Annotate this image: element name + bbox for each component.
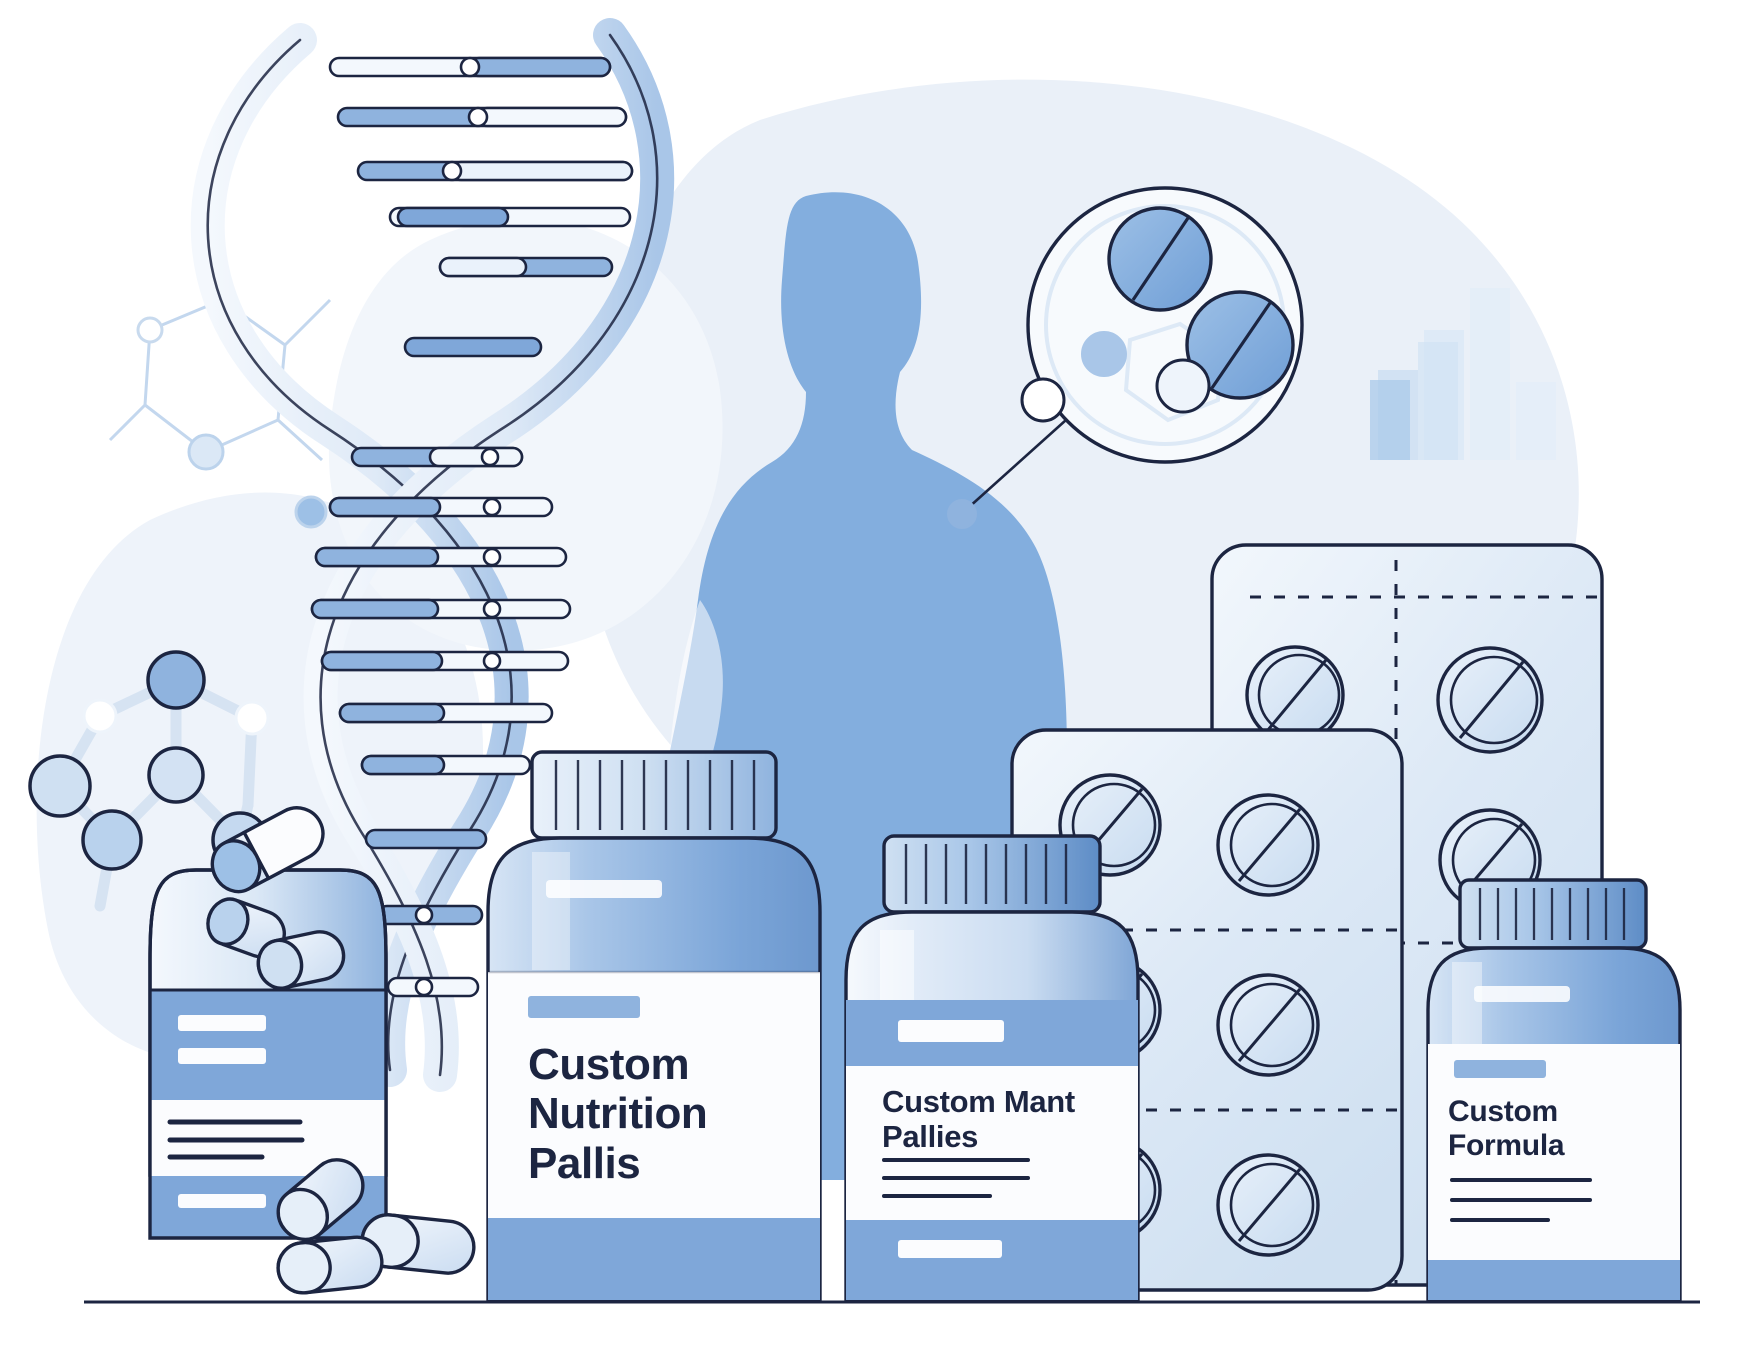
- bottle-medium-cap: [884, 836, 1100, 912]
- bottle-large-gloss: [532, 852, 570, 970]
- hex-bond-1: [285, 300, 330, 345]
- bar-1-front: [1370, 380, 1410, 460]
- magnifier-node-white: [1157, 360, 1209, 412]
- bottle-medium-gloss: [880, 930, 914, 1000]
- supplement-bottle-large: [488, 752, 820, 1300]
- bottle-small-label-text: Custom Formula: [1448, 1095, 1623, 1162]
- atom-node-highlight: [236, 702, 268, 734]
- bottle-large-cap: [532, 752, 776, 838]
- bottle-medium-band-strip: [898, 1020, 1004, 1042]
- supplement-bottle-medium: [846, 836, 1138, 1300]
- helix-rung: [322, 652, 568, 670]
- hex-node-3: [138, 318, 162, 342]
- bottle-small-gloss: [1452, 962, 1482, 1044]
- label-line: Nutrition: [528, 1089, 768, 1138]
- jar-band-bottom-line: [178, 1194, 266, 1208]
- supplement-bottle-small: [1428, 880, 1680, 1300]
- helix-rung: [352, 448, 522, 466]
- blister-tablet: [1218, 1155, 1318, 1255]
- atom-node-primary: [148, 652, 204, 708]
- connector-node-body: [948, 500, 976, 528]
- bottle-medium-lower-strip: [898, 1240, 1002, 1258]
- helix-rung: [440, 258, 612, 276]
- helix-rung: [330, 58, 610, 76]
- blister-tablet: [1218, 975, 1318, 1075]
- helix-rung: [366, 830, 486, 848]
- illustration-canvas: Custom Nutrition Pallis Custom Mant Pall…: [0, 0, 1747, 1347]
- jar-band-line-1: [178, 1015, 266, 1031]
- bottle-small-highlight-strip: [1474, 986, 1570, 1002]
- bottle-large-lower-band: [488, 1218, 820, 1300]
- helix-rung: [330, 498, 552, 516]
- label-line: Custom: [1448, 1095, 1623, 1129]
- label-line: Custom Mant: [882, 1085, 1097, 1120]
- helix-rung: [388, 978, 478, 996]
- bar-2-front: [1418, 342, 1458, 460]
- bottle-large-label-text: Custom Nutrition Pallis: [528, 1040, 768, 1188]
- blister-tablet: [1438, 648, 1542, 752]
- jar-band-line-2: [178, 1048, 266, 1064]
- helix-rung: [316, 548, 566, 566]
- helix-rung: [358, 162, 632, 180]
- helix-rung: [338, 108, 626, 126]
- atom-node: [83, 811, 141, 869]
- atom-node: [149, 748, 203, 802]
- bottle-medium-lower-band: [846, 1220, 1138, 1300]
- capsule: [276, 1235, 385, 1296]
- helix-rung: [340, 704, 552, 722]
- atom-node-highlight: [84, 700, 116, 732]
- blob-center-soft: [329, 218, 723, 650]
- bar-3: [1470, 288, 1510, 460]
- blister-tablet: [1218, 795, 1318, 895]
- hex-node-1: [189, 435, 223, 469]
- bottle-medium-label-text: Custom Mant Pallies: [882, 1085, 1097, 1154]
- label-line: Pallis: [528, 1139, 768, 1188]
- bottle-small-lower-band: [1428, 1260, 1680, 1300]
- helix-rung: [362, 756, 530, 774]
- label-line: Custom: [528, 1040, 768, 1089]
- label-line: Pallies: [882, 1120, 1097, 1155]
- jar-band-blue: [150, 990, 386, 1100]
- atom-node: [30, 756, 90, 816]
- bar-4: [1516, 382, 1556, 460]
- hex-node-2: [296, 497, 326, 527]
- helix-rung: [405, 338, 541, 356]
- bottle-large-label-accent: [528, 996, 640, 1018]
- bottle-small-label-accent: [1454, 1060, 1546, 1078]
- label-line: Formula: [1448, 1129, 1623, 1163]
- magnifier-node-edge: [1022, 379, 1064, 421]
- hex-bond-3: [110, 405, 145, 440]
- helix-rung: [378, 906, 482, 924]
- magnifier-node-small: [1082, 332, 1126, 376]
- helix-rung: [390, 208, 630, 226]
- helix-rung: [312, 600, 570, 618]
